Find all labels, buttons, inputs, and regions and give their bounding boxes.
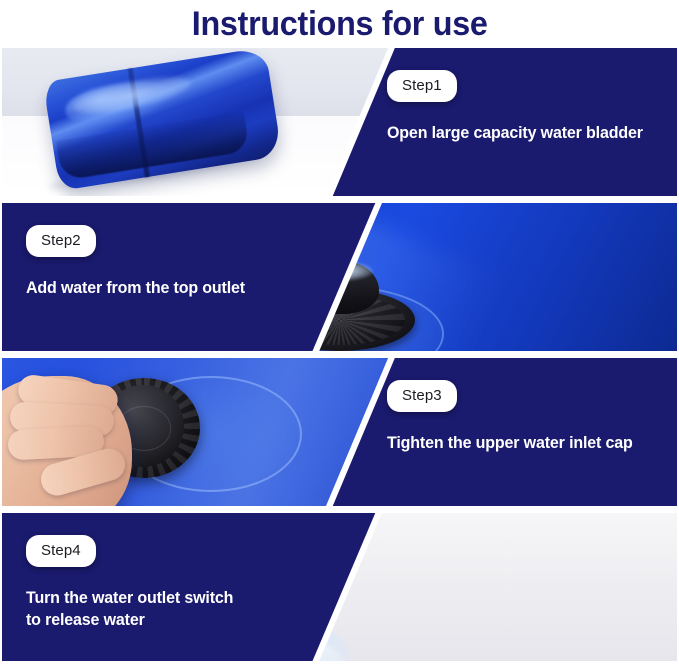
step-4-text: Turn the water outlet switch to release … [26, 587, 233, 632]
step-4-badge: Step4 [26, 535, 96, 567]
step-3-caption: Step3 Tighten the upper water inlet cap [387, 380, 640, 454]
step-4-text-line-2: to release water [26, 611, 145, 629]
title-bar: Instructions for use [0, 0, 679, 48]
step-2-text: Add water from the top outlet [26, 277, 245, 299]
step-3-text: Tighten the upper water inlet cap [387, 432, 633, 454]
page-title: Instructions for use [192, 7, 488, 41]
step-2-caption: Step2 Add water from the top outlet [26, 225, 252, 299]
step-panel-1: Step1 Open large capacity water bladder [2, 48, 677, 196]
step-2-badge: Step2 [26, 225, 96, 257]
step-1-text: Open large capacity water bladder [387, 122, 643, 144]
step-3-badge: Step3 [387, 380, 457, 412]
step-panel-3: Step3 Tighten the upper water inlet cap [2, 358, 677, 506]
step-4-caption: Step4 Turn the water outlet switch to re… [26, 535, 240, 632]
step-1-caption: Step1 Open large capacity water bladder [387, 70, 651, 144]
step-4-text-line-1: Turn the water outlet switch [26, 589, 233, 607]
step-panel-2: Step2 Add water from the top outlet [2, 203, 677, 351]
step-panel-4: Step4 Turn the water outlet switch to re… [2, 513, 677, 661]
step-1-badge: Step1 [387, 70, 457, 102]
steps-list: Step1 Open large capacity water bladder … [0, 48, 679, 661]
